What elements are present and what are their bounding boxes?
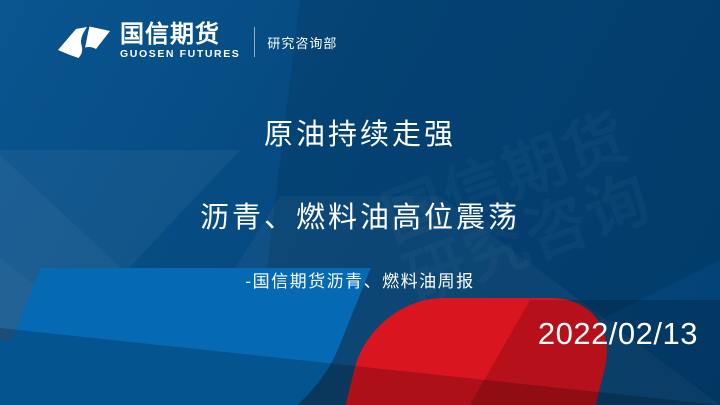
guosen-futures-logo-mark [56,21,112,63]
brand-wordmark: 国信期货 GUOSEN FUTURES [120,21,240,63]
title-line-1: 原油持续走强 [0,118,720,153]
brand-name-en: GUOSEN FUTURES [120,48,240,62]
report-date: 2022/02/13 [538,316,698,352]
title-group: 原油持续走强 沥青、燃料油高位震荡 -国信期货沥青、燃料油周报 [0,118,720,292]
brand-divider [254,27,255,57]
brand-lockup: 国信期货 GUOSEN FUTURES 研究咨询部 [56,18,337,66]
department-label: 研究咨询部 [267,33,337,52]
report-subtitle: -国信期货沥青、燃料油周报 [0,272,720,292]
title-slide: 国信期货 研究咨询 国信期货 GUOSEN FUTURES 研究咨询部 原油持续… [0,0,720,405]
brand-name-cn: 国信期货 [120,22,240,47]
title-line-2: 沥青、燃料油高位震荡 [0,201,720,236]
